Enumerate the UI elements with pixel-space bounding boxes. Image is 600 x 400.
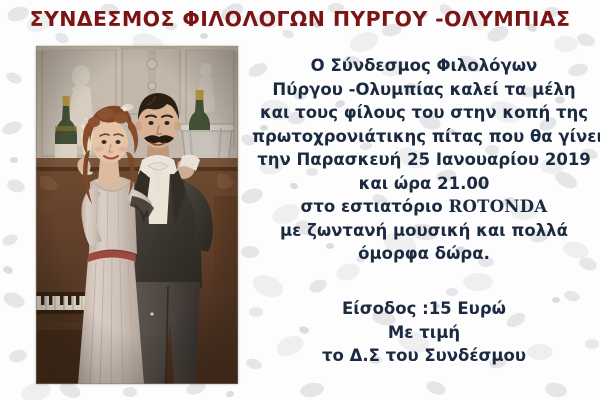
entry-fee-line: Είσοδος :15 Ευρώ <box>252 297 596 321</box>
message-line: την Παρασκευή 25 Ιανουαρίου 2019 <box>252 148 596 172</box>
message-line: και ώρα 21.00 <box>252 172 596 196</box>
message-line: όμορφα δώρα. <box>252 242 596 266</box>
poster: ΣΥΝΔΕΣΜΟΣ ΦΙΛΟΛΟΓΩΝ ΠΥΡΓΟΥ -ΟΛΥΜΠΙΑΣ <box>0 0 600 400</box>
vintage-photo <box>36 46 238 384</box>
invitation-message: Ο Σύνδεσμος Φιλολόγων Πύργου -Ολυμπίας κ… <box>252 54 596 266</box>
poster-title-text: ΣΥΝΔΕΣΜΟΣ ΦΙΛΟΛΟΓΩΝ ΠΥΡΓΟΥ -ΟΛΥΜΠΙΑΣ <box>30 8 571 31</box>
entry-and-signature: Είσοδος :15 Ευρώ Με τιμή το Δ.Σ του Συνδ… <box>252 297 596 368</box>
message-line: με ζωντανή μουσική και πολλά <box>252 219 596 243</box>
venue-prefix: στο εστιατόριο <box>300 197 448 216</box>
poster-title: ΣΥΝΔΕΣΜΟΣ ΦΙΛΟΛΟΓΩΝ ΠΥΡΓΟΥ -ΟΛΥΜΠΙΑΣ <box>0 8 600 31</box>
message-line: Πύργου -Ολυμπίας καλεί τα μέλη <box>252 78 596 102</box>
message-line: και τους φίλους του στην κοπή της <box>252 101 596 125</box>
venue-line: στο εστιατόριο ROTONDA <box>252 195 596 219</box>
venue-name: ROTONDA <box>448 197 547 216</box>
message-line: Ο Σύνδεσμος Φιλολόγων <box>252 54 596 78</box>
regards-line: Με τιμή <box>252 321 596 345</box>
message-line: πρωτοχρονιάτικης πίτας που θα γίνει <box>252 125 596 149</box>
signature-line: το Δ.Σ του Συνδέσμου <box>252 344 596 368</box>
